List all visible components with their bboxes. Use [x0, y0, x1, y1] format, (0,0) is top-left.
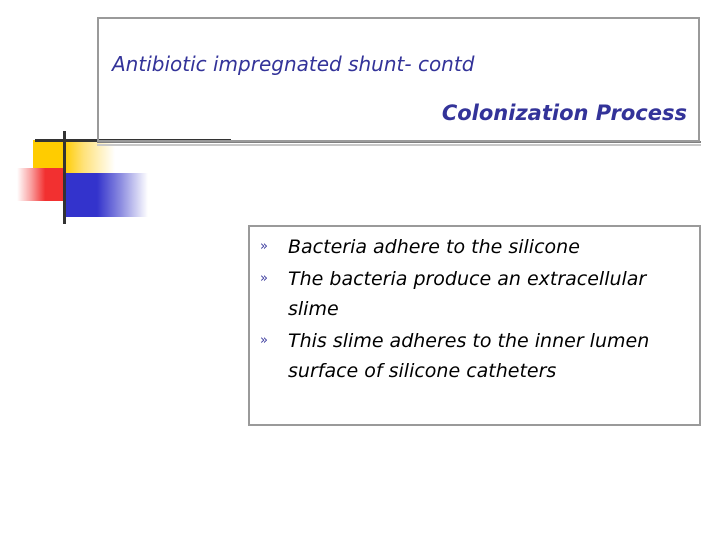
slide-title-secondary: Colonization Process [112, 100, 687, 126]
red-square-icon [17, 168, 64, 201]
crosshair-vertical-line [63, 131, 66, 224]
slide-title-primary: Antibiotic impregnated shunt- contd [112, 52, 687, 76]
bullet-marker-icon: » [256, 232, 288, 262]
list-item-label: Bacteria adhere to the silicone [288, 232, 696, 262]
slide-canvas: Antibiotic impregnated shunt- contd Colo… [0, 0, 720, 540]
list-item-label: This slime adheres to the inner lumen su… [288, 326, 696, 386]
list-item: » Bacteria adhere to the silicone [256, 232, 696, 262]
bullet-marker-icon: » [256, 264, 288, 294]
list-item-label: The bacteria produce an extracellular sl… [288, 264, 696, 324]
blue-square-icon [63, 173, 148, 217]
list-item: » The bacteria produce an extracellular … [256, 264, 696, 324]
header-rule-light [97, 144, 701, 146]
slide-subtitle-text: Colonization Process [442, 101, 687, 125]
bullet-marker-icon: » [256, 326, 288, 356]
list-item: » This slime adheres to the inner lumen … [256, 326, 696, 386]
bullet-list: » Bacteria adhere to the silicone » The … [256, 232, 696, 388]
